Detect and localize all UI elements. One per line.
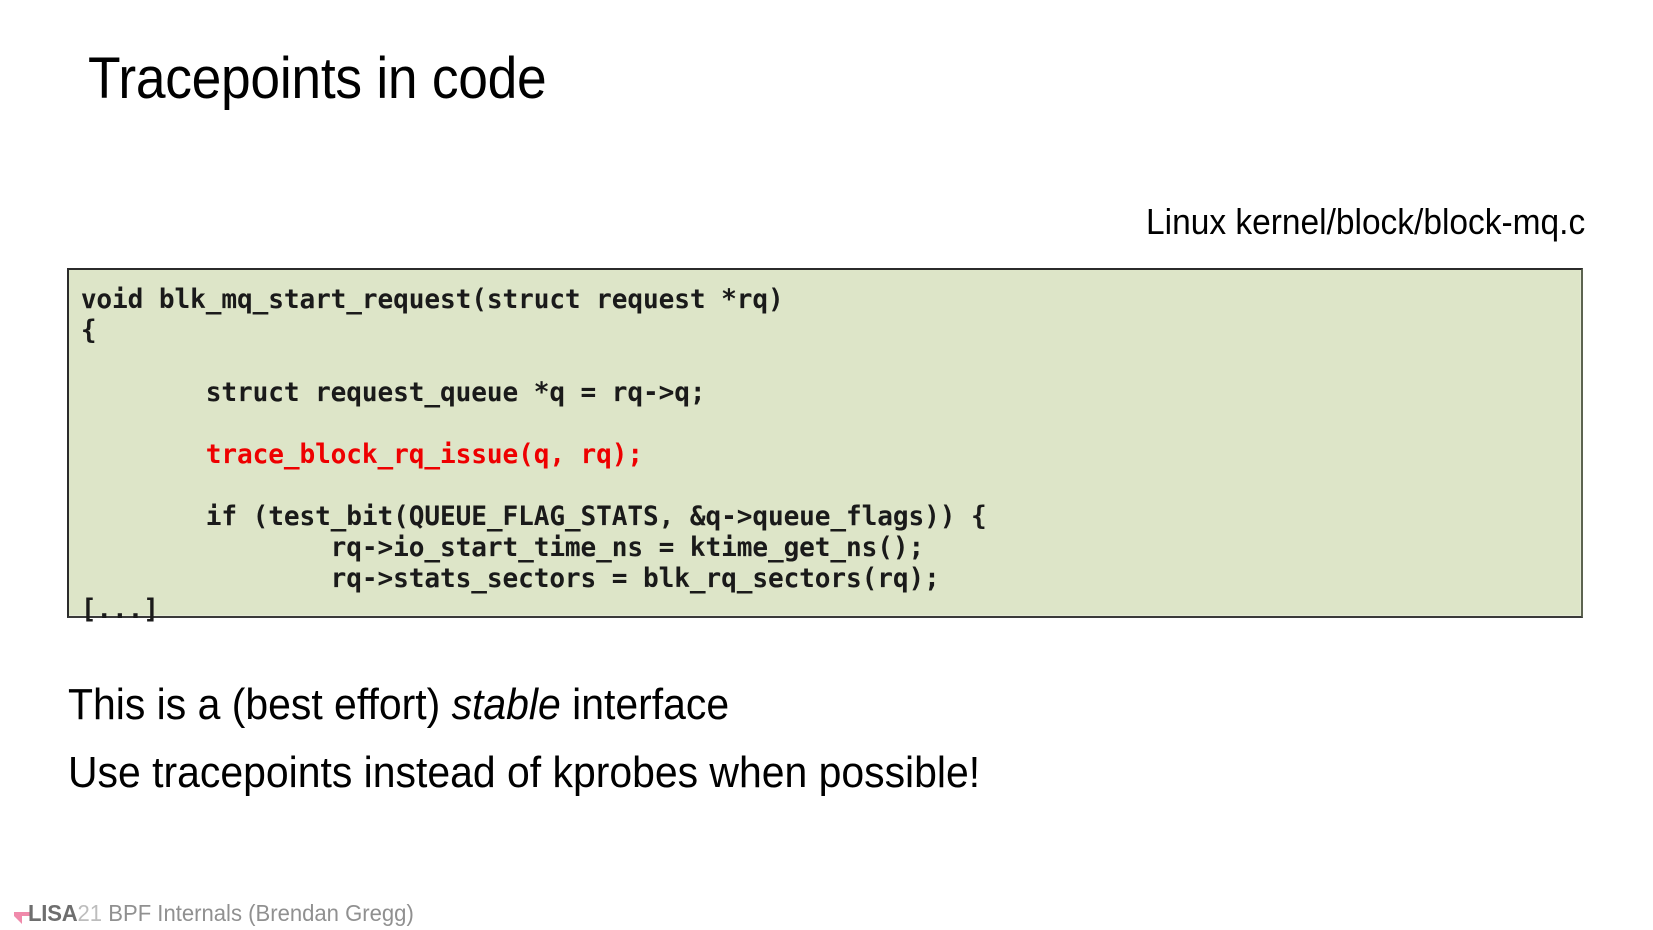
code-line: rq->io_start_time_ns = ktime_get_ns(); [81,532,924,563]
emphasis-text: stable [452,680,561,729]
slide-canvas: Tracepoints in code Linux kernel/block/b… [0,0,1653,930]
code-line: void blk_mq_start_request(struct request… [81,284,784,315]
bullet-text: This is a (best effort) [68,680,452,729]
code-line: if (test_bit(QUEUE_FLAG_STATS, &q->queue… [81,501,987,532]
code-line: trace_block_rq_issue(q, rq); [81,439,643,470]
code-listing: void blk_mq_start_request(struct request… [69,270,1558,625]
footer-brand: LISA [28,900,78,926]
code-line: [...] [81,594,159,625]
code-line: struct request_queue *q = rq->q; [81,377,706,408]
footer-text: BPF Internals (Brendan Gregg) [102,900,414,926]
code-line: { [81,315,97,346]
code-source-caption: Linux kernel/block/block-mq.c [1146,200,1585,244]
bullet-text: Use tracepoints instead of kprobes when … [68,748,980,797]
code-block: void blk_mq_start_request(struct request… [67,268,1583,618]
slide-footer: LISA21 BPF Internals (Brendan Gregg) [28,899,414,927]
code-line: rq->stats_sectors = blk_rq_sectors(rq); [81,563,940,594]
page-title: Tracepoints in code [88,44,546,114]
footer-year: 21 [78,900,103,926]
bullet-use-tracepoints: Use tracepoints instead of kprobes when … [68,746,980,800]
bullet-stable-interface: This is a (best effort) stable interface [68,678,729,732]
bullet-text: interface [561,680,729,729]
